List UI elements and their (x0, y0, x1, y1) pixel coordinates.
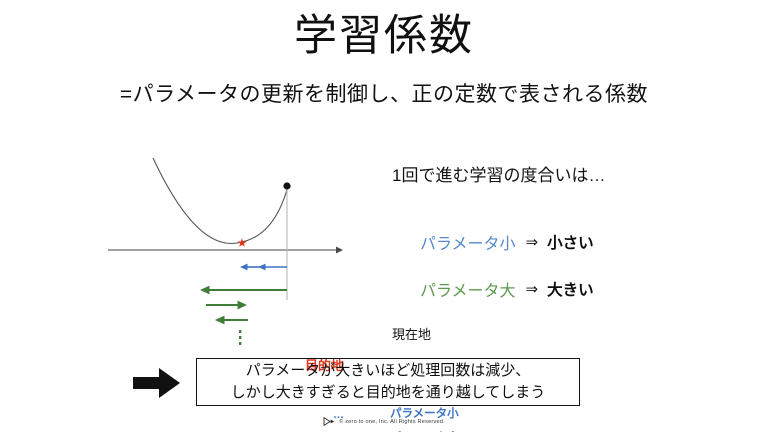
param-small-arrow-group (240, 264, 287, 271)
explanation-heading: 1回で進む学習の度合いは… (392, 167, 605, 184)
destination-star-icon (238, 238, 247, 246)
footer: © zero to one, Inc. All Rights Reserved. (0, 417, 768, 426)
conclusion-line-2: しかし大きすぎると目的地を通り越してしまう (231, 382, 546, 404)
conclusion-box: パラメータが大きいほど処理回数は減少、 しかし大きすぎると目的地を通り越してしま… (196, 358, 580, 406)
block-arrow-right-icon (133, 367, 181, 399)
mapping-key-param-small: パラメータ小 (420, 230, 516, 254)
slide-root: 学習係数 =パラメータの更新を制御し、正の定数で表される係数 (0, 0, 768, 432)
mapping-key-param-large: パラメータ大 (420, 277, 516, 301)
implies-arrow-icon: ⇒ (526, 280, 539, 298)
x-axis-arrowhead (336, 247, 343, 254)
implies-arrow-icon: ⇒ (526, 233, 539, 251)
param-large-ellipsis-icon (239, 330, 241, 345)
zero-to-one-logo-icon (323, 417, 335, 426)
diagram-svg (96, 150, 396, 345)
page-subtitle: =パラメータの更新を制御し、正の定数で表される係数 (0, 82, 768, 107)
loss-curve (153, 158, 288, 243)
mapping-value-param-large: 大きい (547, 278, 594, 300)
page-title: 学習係数 (0, 12, 768, 60)
current-position-dot (283, 182, 290, 189)
current-position-label: 現在地 (392, 328, 431, 341)
mapping-row-param-small: パラメータ小 ⇒ 小さい (420, 230, 594, 254)
mapping-value-param-small: 小さい (547, 231, 594, 253)
gradient-descent-diagram: 現在地 目的地 … パラメータ小 パラメータ大 (96, 150, 396, 345)
conclusion-line-1: パラメータが大きいほど処理回数は減少、 (246, 360, 531, 382)
param-large-arrow-group (200, 286, 287, 345)
copyright-text: © zero to one, Inc. All Rights Reserved. (339, 419, 445, 425)
mapping-row-param-large: パラメータ大 ⇒ 大きい (420, 277, 594, 301)
